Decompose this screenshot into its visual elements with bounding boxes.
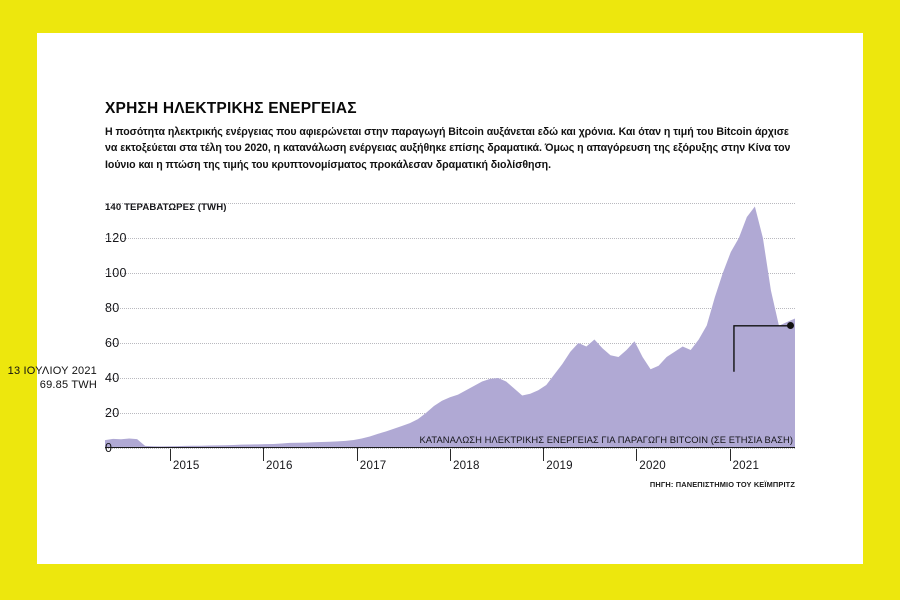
y-axis-tick-label: 100 xyxy=(105,267,127,280)
y-axis-tick-label: 20 xyxy=(105,407,120,420)
y-axis-title: 140 ΤΕΡΑΒΑΤΩΡΕΣ (TWH) xyxy=(105,202,227,213)
area-series-svg xyxy=(105,203,795,448)
area-series-path xyxy=(105,207,795,449)
x-axis-tick-label: 2020 xyxy=(636,459,666,472)
x-axis-tick-label: 2015 xyxy=(170,459,200,472)
y-axis-tick-label: 120 xyxy=(105,232,127,245)
series-caption: ΚΑΤΑΝΑΛΩΣΗ ΗΛΕΚΤΡΙΚΗΣ ΕΝΕΡΓΕΙΑΣ ΓΙΑ ΠΑΡΑ… xyxy=(420,434,794,445)
x-axis-tick-label: 2017 xyxy=(357,459,387,472)
annotation-label: 13 ΙΟΥΛΙΟΥ 2021 69.85 TWH xyxy=(8,364,97,393)
x-axis-tick-label: 2016 xyxy=(263,459,293,472)
y-axis-tick-label: 40 xyxy=(105,372,120,385)
source-note: ΠΗΓΗ: ΠΑΝΕΠΙΣΤΗΜΙΟ ΤΟΥ ΚΕΪΜΠΡΙΤΖ xyxy=(105,480,795,489)
x-axis: 2015201620172018201920202021 xyxy=(105,448,795,482)
infographic-card: ΧΡΗΣΗ ΗΛΕΚΤΡΙΚΗΣ ΕΝΕΡΓΕΙΑΣ Η ποσότητα ηλ… xyxy=(37,33,863,564)
y-axis-tick-label: 60 xyxy=(105,337,120,350)
annotation-value: 69.85 TWH xyxy=(8,378,97,393)
x-axis-tick-label: 2019 xyxy=(543,459,573,472)
area-series xyxy=(105,203,795,448)
x-axis-tick-label: 2021 xyxy=(730,459,760,472)
annotation-date: 13 ΙΟΥΛΙΟΥ 2021 xyxy=(8,364,97,379)
gridline xyxy=(105,448,795,449)
y-axis-tick-label: 80 xyxy=(105,302,120,315)
subtitle-line-1: Η ποσότητα ηλεκτρικής ενέργειας που αφιε… xyxy=(105,126,752,138)
x-axis-line xyxy=(105,447,795,448)
screenshot-root: ΧΡΗΣΗ ΗΛΕΚΤΡΙΚΗΣ ΕΝΕΡΓΕΙΑΣ Η ποσότητα ηλ… xyxy=(0,0,900,600)
page-title: ΧΡΗΣΗ ΗΛΕΚΤΡΙΚΗΣ ΕΝΕΡΓΕΙΑΣ xyxy=(105,100,795,117)
x-axis-tick-label: 2018 xyxy=(450,459,480,472)
chart-subtitle: Η ποσότητα ηλεκτρικής ενέργειας που αφιε… xyxy=(105,124,795,173)
chart-plot: 140 ΤΕΡΑΒΑΤΩΡΕΣ (TWH) 020406080100120 ΚΑ… xyxy=(105,203,795,448)
chart-header: ΧΡΗΣΗ ΗΛΕΚΤΡΙΚΗΣ ΕΝΕΡΓΕΙΑΣ Η ποσότητα ηλ… xyxy=(105,100,795,173)
y-axis-tick-label: 0 xyxy=(105,442,112,455)
